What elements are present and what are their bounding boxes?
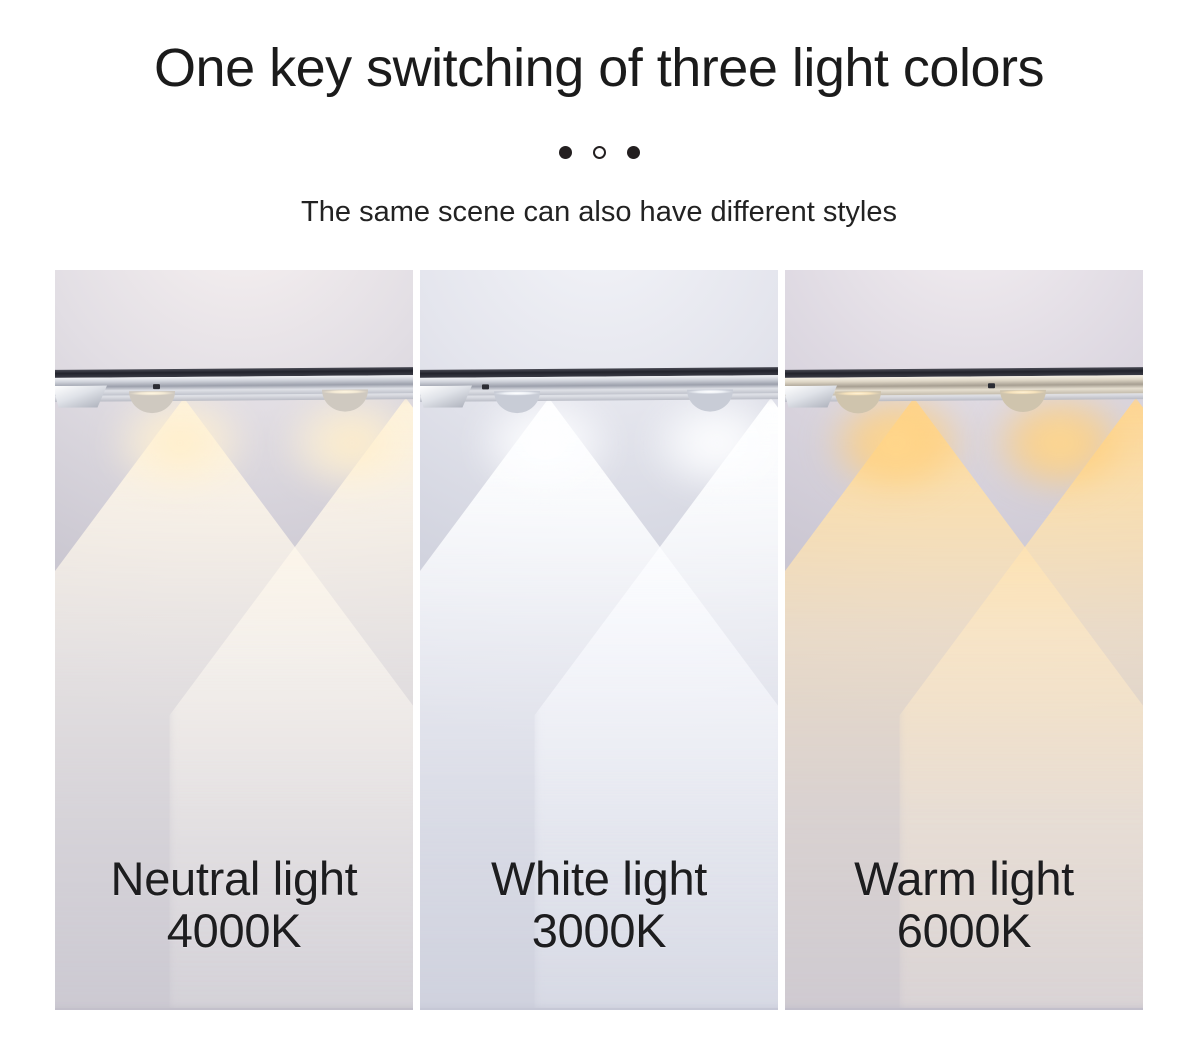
led-rail-fixture bbox=[420, 367, 778, 404]
led-rail-fixture bbox=[55, 367, 413, 404]
motion-sensor-icon bbox=[987, 383, 994, 388]
carousel-pager[interactable] bbox=[0, 146, 1198, 159]
led-rail-fixture bbox=[785, 367, 1143, 404]
header: One key switching of three light colors … bbox=[0, 0, 1198, 270]
light-color-comparison-gallery: Neutral light 4000K White light 3000K bbox=[55, 270, 1143, 1010]
light-panel-white[interactable]: White light 3000K bbox=[420, 270, 778, 1010]
pager-dot-3[interactable] bbox=[627, 146, 640, 159]
page-title: One key switching of three light colors bbox=[0, 38, 1198, 98]
motion-sensor-icon bbox=[482, 384, 489, 389]
page-subtitle: The same scene can also have different s… bbox=[0, 196, 1198, 229]
pager-dot-1[interactable] bbox=[559, 146, 572, 159]
pager-dot-2[interactable] bbox=[593, 146, 606, 159]
light-hotspot-left bbox=[470, 388, 620, 498]
light-hotspot-left bbox=[105, 388, 255, 498]
motion-sensor-icon bbox=[153, 384, 160, 389]
light-panel-warm[interactable]: Warm light 6000K bbox=[785, 270, 1143, 1010]
light-panel-neutral[interactable]: Neutral light 4000K bbox=[55, 270, 413, 1010]
